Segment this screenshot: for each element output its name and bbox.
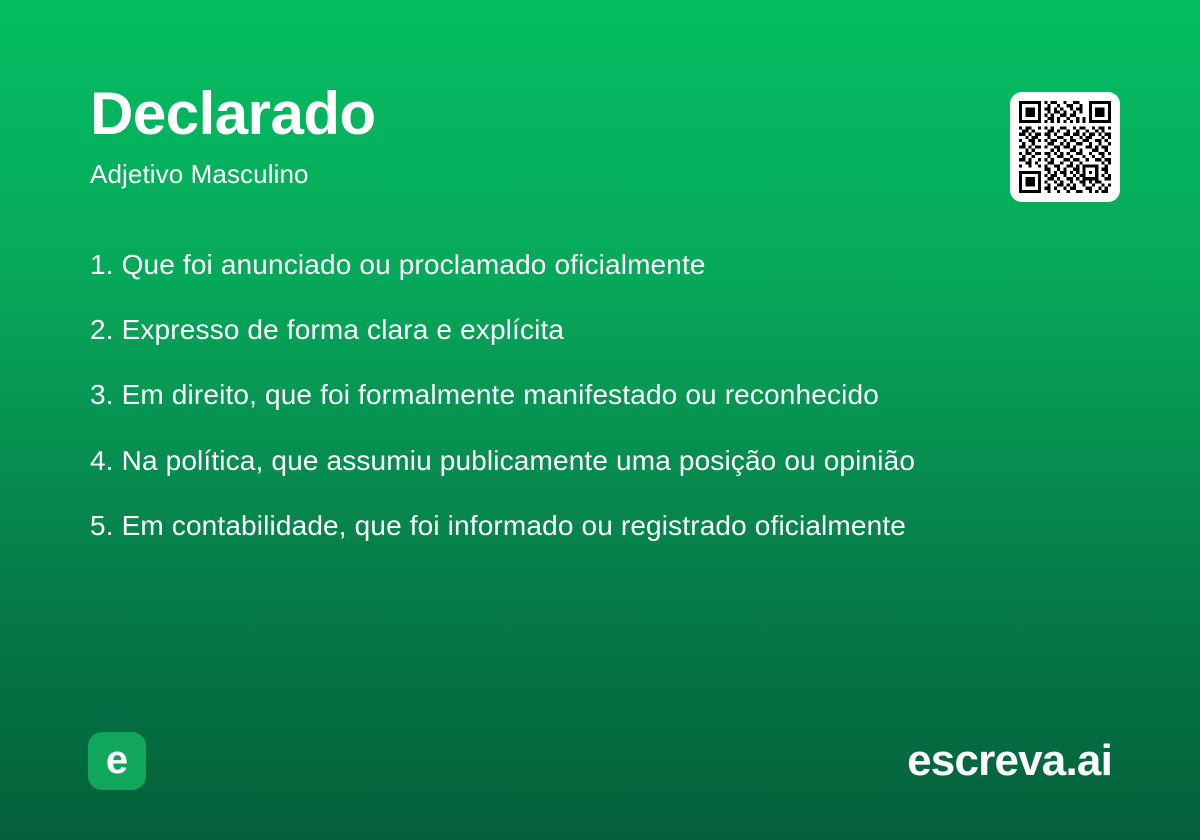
grammar-class-label: Adjetivo Masculino: [90, 160, 970, 189]
escreva-logo-icon[interactable]: e: [88, 732, 146, 790]
qr-code-icon[interactable]: [1010, 92, 1120, 202]
card-footer: e escreva.ai: [0, 730, 1200, 792]
definition-list: 1. Que foi anunciado ou proclamado ofici…: [90, 246, 1120, 544]
card-header: Declarado Adjetivo Masculino: [90, 84, 970, 189]
list-item: 5. Em contabilidade, que foi informado o…: [90, 507, 1120, 544]
dictionary-card: Declarado Adjetivo Masculino: [0, 0, 1200, 840]
logo-letter: e: [106, 740, 128, 780]
list-item: 1. Que foi anunciado ou proclamado ofici…: [90, 246, 1120, 283]
qr-code-svg: [1019, 101, 1111, 193]
list-item: 2. Expresso de forma clara e explícita: [90, 311, 1120, 348]
list-item: 4. Na política, que assumiu publicamente…: [90, 442, 1120, 479]
page-title: Declarado: [90, 84, 970, 144]
list-item: 3. Em direito, que foi formalmente manif…: [90, 376, 1120, 413]
brand-wordmark: escreva.ai: [907, 739, 1112, 783]
